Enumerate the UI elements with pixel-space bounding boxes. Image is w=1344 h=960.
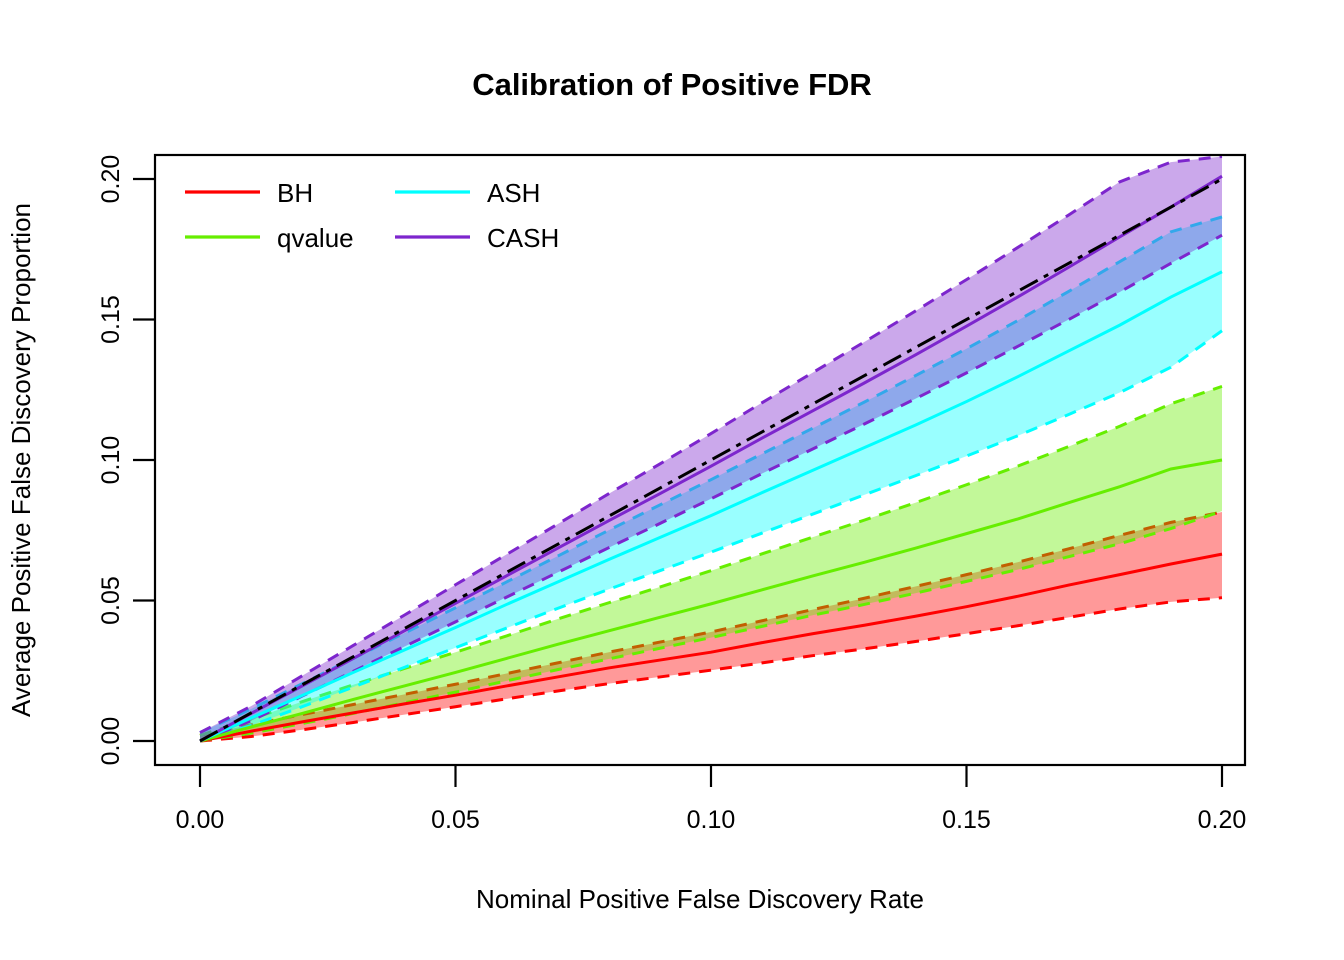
y-tick-label-0.10: 0.10 [97,436,125,485]
x-axis-title: Nominal Positive False Discovery Rate [476,884,924,914]
x-tick-label-0.15: 0.15 [942,806,991,834]
legend-label-bh: BH [277,178,313,208]
chart-figure: Calibration of Positive FDR Nominal Posi… [0,0,1344,960]
legend-label-cash: CASH [487,223,559,253]
y-axis-title: Average Positive False Discovery Proport… [6,203,36,717]
y-tick-label-0.15: 0.15 [97,295,125,344]
y-tick-label-0.20: 0.20 [97,155,125,204]
x-tick-label-0.20: 0.20 [1198,806,1247,834]
x-tick-label-0.10: 0.10 [687,806,736,834]
page-title: Calibration of Positive FDR [472,67,872,102]
x-tick-label-0.05: 0.05 [431,806,480,834]
y-tick-label-0.00: 0.00 [97,717,125,766]
y-tick-label-0.05: 0.05 [97,576,125,625]
fdr-calibration-chart: Calibration of Positive FDR Nominal Posi… [0,0,1344,960]
legend-label-qvalue: qvalue [277,223,354,253]
x-tick-label-0.00: 0.00 [176,806,225,834]
legend-label-ash: ASH [487,178,540,208]
